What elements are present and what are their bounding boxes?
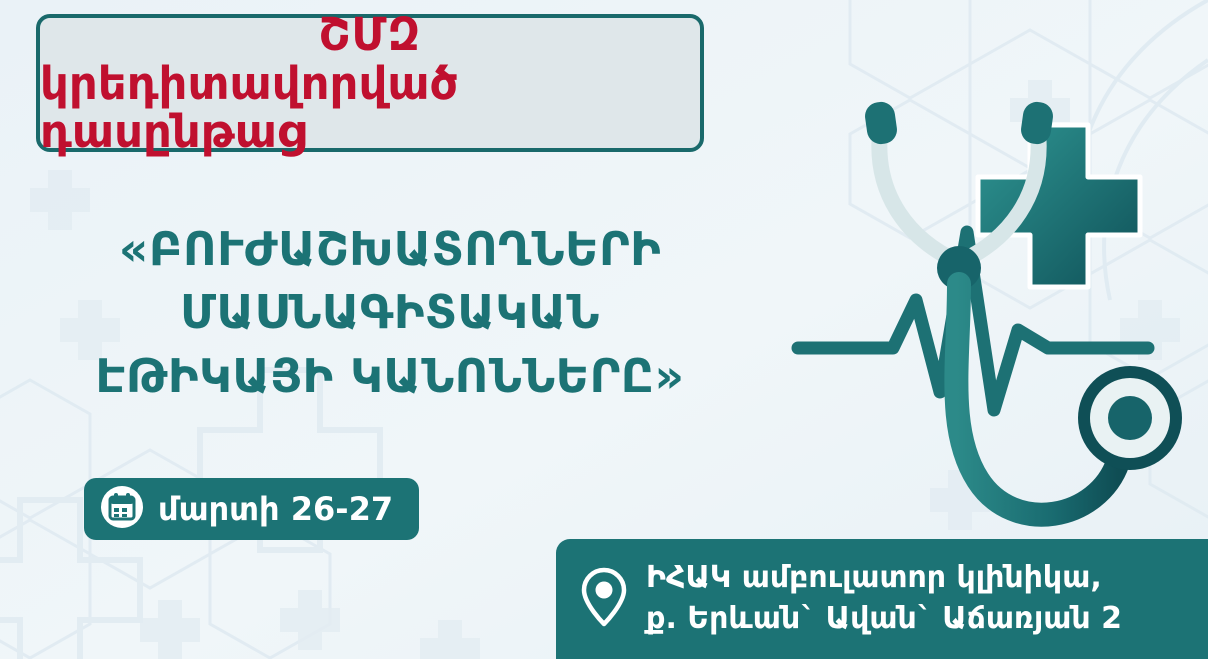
title-line-1: ՇՄԶ <box>319 11 422 58</box>
main-heading-line-3: ԷԹԻԿԱՅԻ ԿԱՆՈՆՆԵՐԸ» <box>60 345 720 408</box>
calendar-icon <box>100 485 144 533</box>
page-title: «ԲՈՒԺԱՇԽԱՏՈՂՆԵՐԻ ՄԱՍՆԱԳԻՏԱԿԱՆ ԷԹԻԿԱՅԻ ԿԱ… <box>60 218 720 408</box>
location-badge: ԻՀԱԿ ամբուլատոր կլինիկա, ք. Երևան` Ավան`… <box>556 539 1208 659</box>
main-heading-line-2: ՄԱՍՆԱԳԻՏԱԿԱՆ <box>60 281 720 344</box>
poster-canvas: ՇՄԶ կրեդիտավորված դասընթաց «ԲՈՒԺԱՇԽԱՏՈՂՆ… <box>0 0 1208 659</box>
title-plaque: ՇՄԶ կրեդիտավորված դասընթաց <box>36 14 704 152</box>
map-pin-icon <box>578 565 630 633</box>
location-line-1: ԻՀԱԿ ամբուլատոր կլինիկա, <box>646 560 1102 595</box>
location-line-2: ք. Երևան` Ավան` Աճառյան 2 <box>646 601 1122 636</box>
date-badge-text: մարտի 26-27 <box>158 490 393 528</box>
date-badge: մարտի 26-27 <box>84 478 419 540</box>
location-badge-text: ԻՀԱԿ ամբուլատոր կլինիկա, ք. Երևան` Ավան`… <box>646 558 1122 640</box>
main-heading-line-1: «ԲՈՒԺԱՇԽԱՏՈՂՆԵՐԻ <box>60 218 720 281</box>
title-line-2: կրեդիտավորված դասընթաց <box>40 60 700 155</box>
